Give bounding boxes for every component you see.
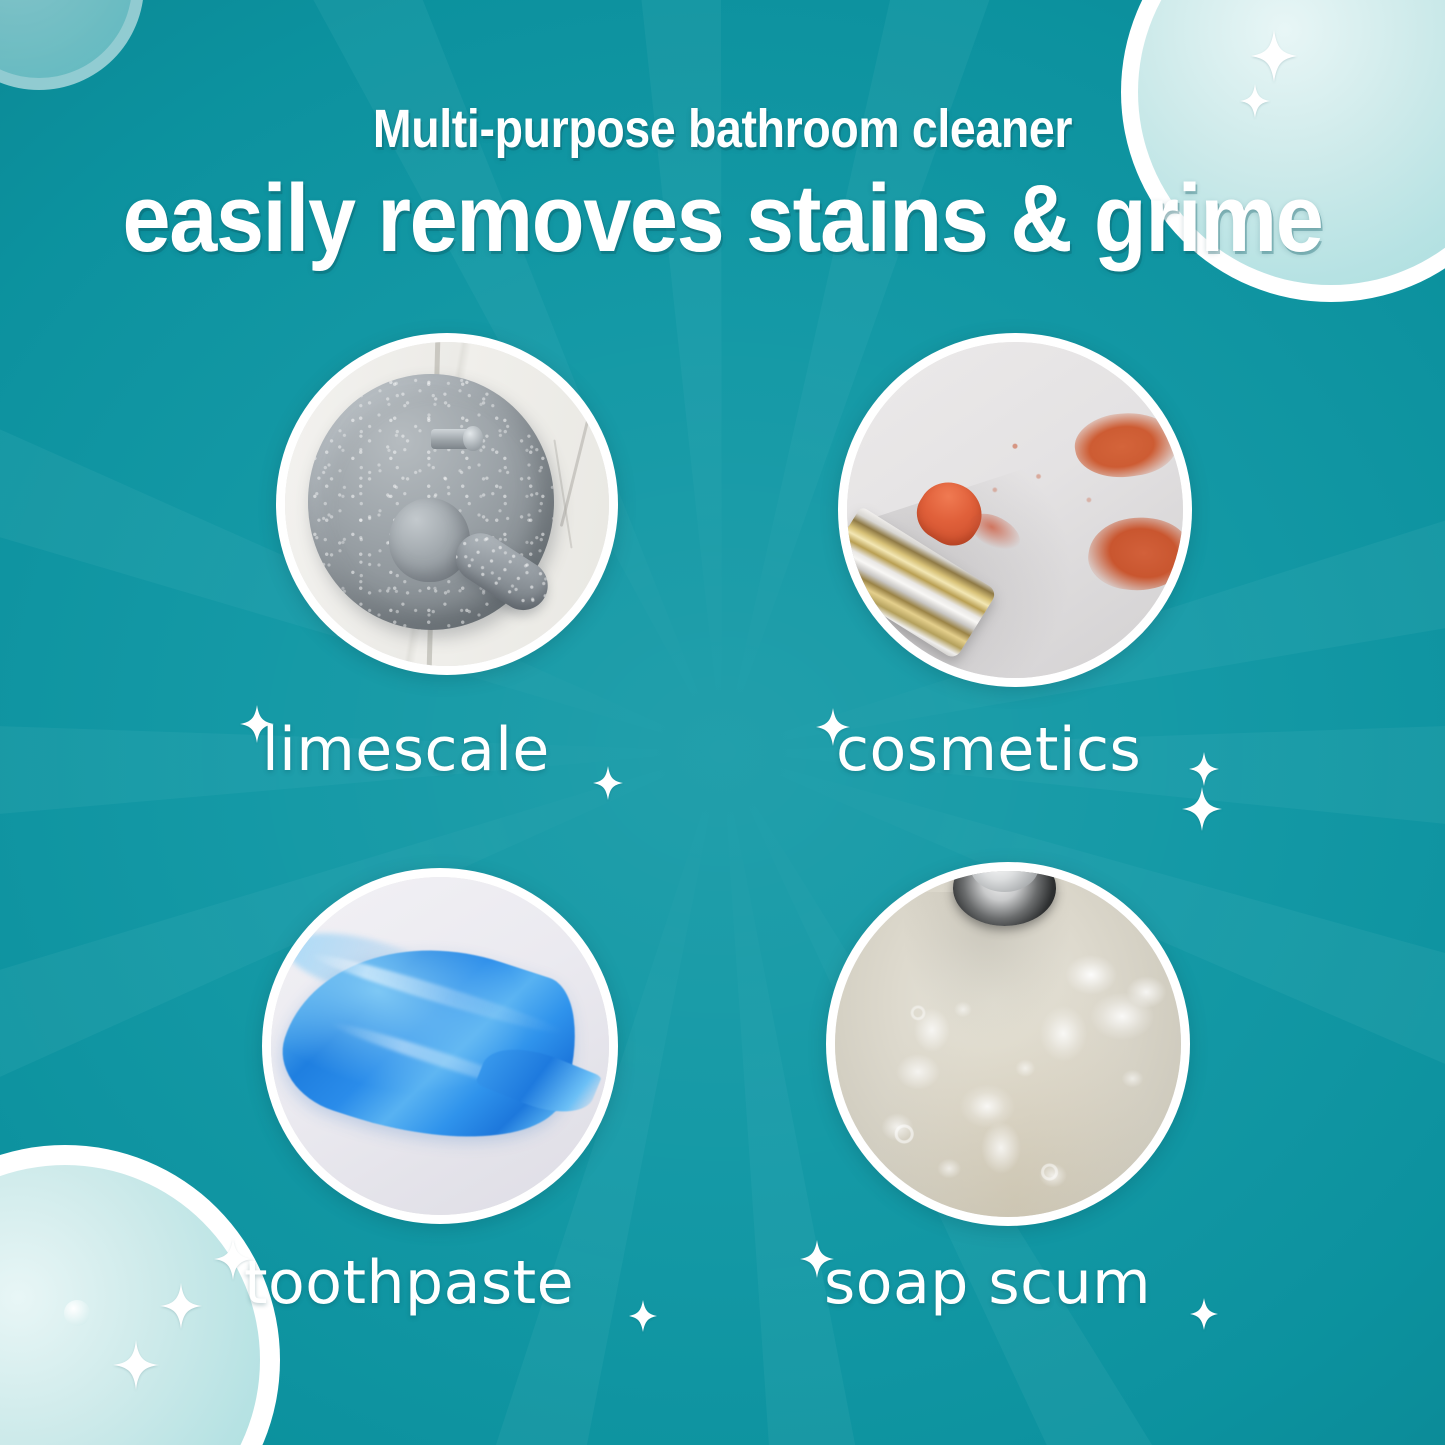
limescale-valve-photo bbox=[285, 342, 609, 666]
headline: Multi-purpose bathroom cleaner easily re… bbox=[0, 0, 1445, 274]
headline-line-2: easily removes stains & grime bbox=[72, 164, 1373, 274]
soap-scum-sink-photo bbox=[835, 871, 1181, 1217]
limescale-photo-ring bbox=[276, 333, 618, 675]
cosmetics-lipstick-photo bbox=[847, 342, 1183, 678]
soap-scum-label: soap scum bbox=[824, 1248, 1151, 1318]
cosmetics-label: cosmetics bbox=[836, 715, 1141, 785]
limescale-label: limescale bbox=[262, 715, 550, 785]
headline-line-1: Multi-purpose bathroom cleaner bbox=[101, 98, 1344, 160]
soap-scum-photo-ring bbox=[826, 862, 1190, 1226]
cosmetics-photo-ring bbox=[838, 333, 1192, 687]
toothpaste-photo-ring bbox=[262, 868, 618, 1224]
toothpaste-smear-photo bbox=[271, 877, 609, 1215]
toothpaste-label: toothpaste bbox=[244, 1248, 574, 1318]
